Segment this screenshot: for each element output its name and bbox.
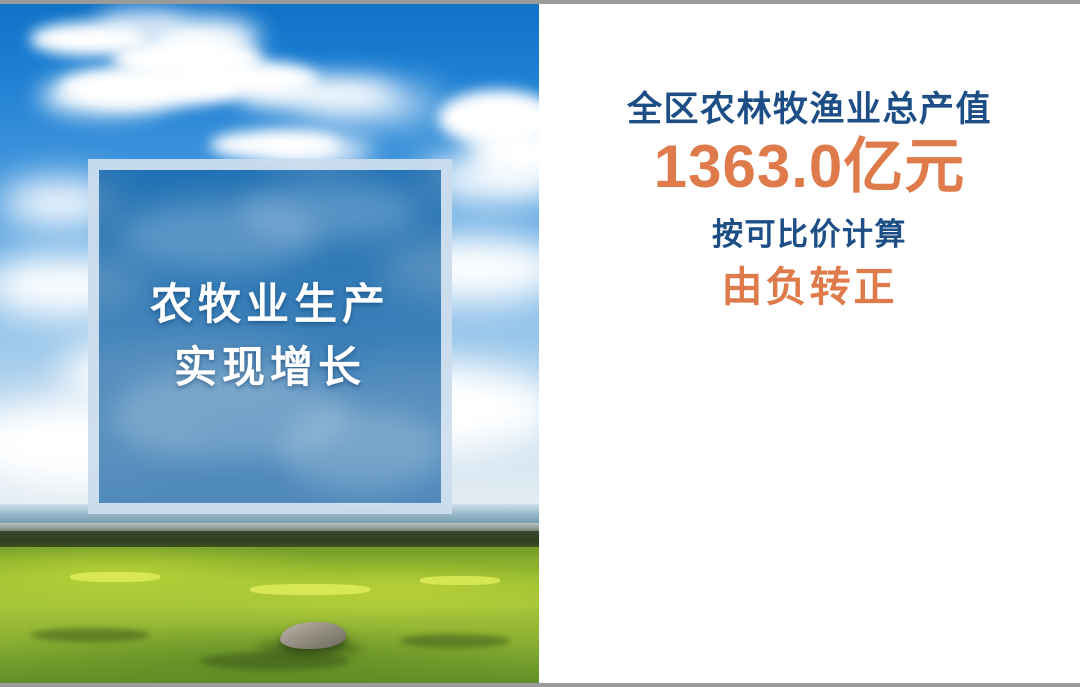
content-panel: 全区农林牧渔业总产值 1363.0亿元 按可比价计算 由负转正 蔬菜及食用菌播种… [539,4,1080,683]
field-highlight [250,584,370,595]
cloud-icon [300,90,440,118]
field-highlight [70,572,160,582]
headline-line-1: 农牧业生产 [150,274,390,336]
field-shadow [400,634,510,648]
headline-box: 农牧业生产 实现增长 [88,159,452,514]
stat-block: 全区农林牧渔业总产值 1363.0亿元 按可比价计算 由负转正 [539,88,1080,311]
stat-subtext: 按可比价计算 [539,216,1080,255]
cloud-icon [119,200,319,270]
infographic-poster: 农牧业生产 实现增长 全区农林牧渔业总产值 1363.0亿元 按可比价计算 由负… [0,0,1080,687]
top-edge-strip [0,0,1080,4]
field-shadow [30,628,150,642]
cloud-icon [40,78,170,114]
stat-value: 1363.0亿元 [539,134,1080,200]
cloud-icon [150,18,260,58]
cloud-icon [239,180,419,240]
stat-label: 全区农林牧渔业总产值 [539,88,1080,132]
field-highlight [420,576,500,585]
cloud-icon [279,410,449,490]
headline-line-2: 实现增长 [174,337,366,399]
grassland-sky-photo: 农牧业生产 实现增长 [0,4,539,683]
bottom-edge-strip [0,683,1080,687]
stat-trend: 由负转正 [539,264,1080,311]
